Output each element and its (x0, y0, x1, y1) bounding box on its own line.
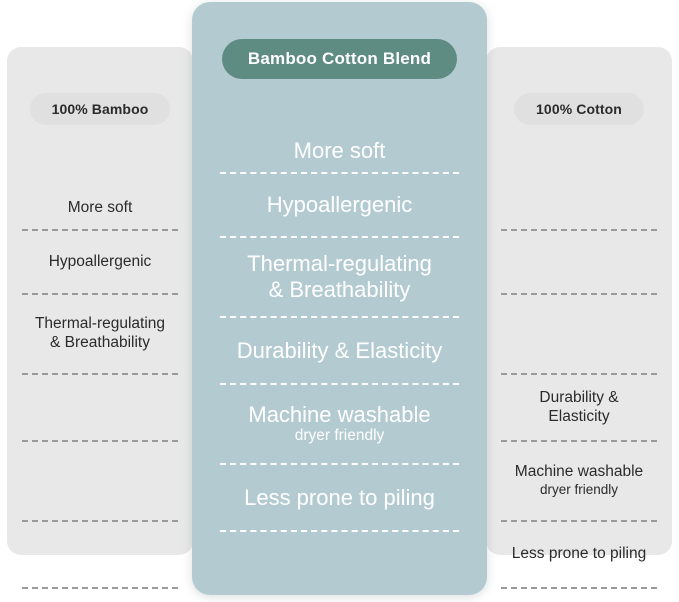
feature-row: Durability &Elasticity (500, 375, 658, 440)
feature-label: More soft (294, 138, 386, 164)
feature-divider (22, 587, 178, 589)
column-header-bamboo: 100% Bamboo (7, 93, 193, 125)
feature-label: Machine washable (515, 463, 643, 482)
feature-divider (220, 530, 459, 532)
feature-row: Machine washabledryer friendly (214, 385, 465, 463)
feature-list-bamboo: More softHypoallergenicThermal-regulatin… (21, 187, 179, 589)
feature-row: Less prone to piling (214, 465, 465, 530)
feature-row: Hypoallergenic (21, 231, 179, 293)
column-header-blend: Bamboo Cotton Blend (192, 39, 487, 79)
feature-row: Durability & Elasticity (214, 318, 465, 383)
comparison-column-cotton: 100% Cotton Durability &ElasticityMachin… (486, 47, 672, 555)
feature-label: Durability & Elasticity (237, 338, 442, 364)
comparison-column-bamboo: 100% Bamboo More softHypoallergenicTherm… (7, 47, 193, 555)
feature-row (500, 187, 658, 229)
feature-label: Hypoallergenic (267, 192, 413, 218)
feature-row (500, 231, 658, 293)
feature-list-blend: More softHypoallergenicThermal-regulatin… (214, 130, 465, 532)
feature-label: More soft (68, 199, 133, 218)
column-badge-blend: Bamboo Cotton Blend (222, 39, 457, 79)
feature-label: Machine washable (248, 402, 430, 428)
feature-list-cotton: Durability &ElasticityMachine washabledr… (500, 187, 658, 589)
feature-divider (501, 587, 657, 589)
feature-sublabel: dryer friendly (540, 482, 618, 498)
feature-label: Thermal-regulating& Breathability (247, 251, 432, 302)
feature-row (21, 375, 179, 440)
feature-label: Thermal-regulating& Breathability (35, 315, 165, 353)
feature-row (21, 522, 179, 587)
feature-label: Less prone to piling (244, 485, 435, 511)
feature-row: Less prone to piling (500, 522, 658, 587)
feature-row: Hypoallergenic (214, 174, 465, 236)
column-header-cotton: 100% Cotton (486, 93, 672, 125)
feature-row (21, 442, 179, 520)
feature-row: More soft (21, 187, 179, 229)
feature-row: Thermal-regulating& Breathability (21, 295, 179, 373)
column-badge-bamboo: 100% Bamboo (30, 93, 171, 125)
feature-sublabel: dryer friendly (295, 427, 385, 446)
feature-row: More soft (214, 130, 465, 172)
feature-label: Durability &Elasticity (539, 389, 618, 427)
product-comparison-chart: 100% Bamboo More softHypoallergenicTherm… (0, 0, 679, 602)
column-badge-cotton: 100% Cotton (514, 93, 644, 125)
feature-label: Hypoallergenic (49, 253, 152, 272)
feature-label: Less prone to piling (512, 545, 646, 564)
feature-row: Machine washabledryer friendly (500, 442, 658, 520)
comparison-column-blend: Bamboo Cotton Blend More softHypoallerge… (192, 2, 487, 595)
feature-row: Thermal-regulating& Breathability (214, 238, 465, 316)
feature-row (500, 295, 658, 373)
